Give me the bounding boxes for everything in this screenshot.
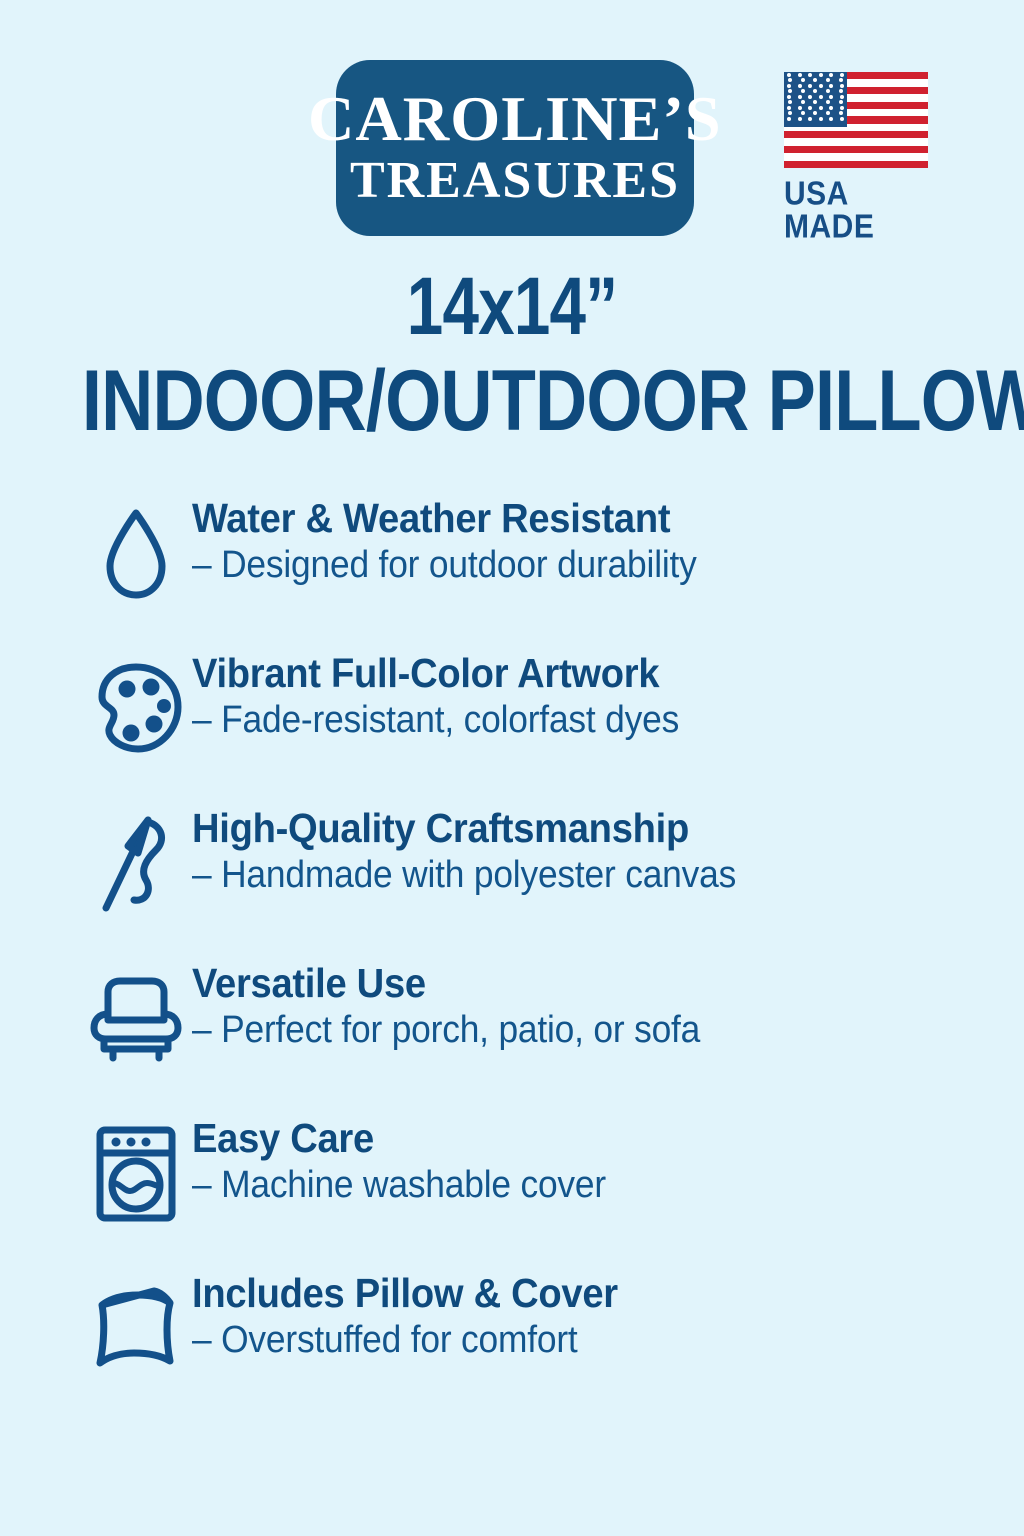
list-item: Easy Care – Machine washable cover bbox=[84, 1112, 984, 1267]
list-item: Includes Pillow & Cover – Overstuffed fo… bbox=[84, 1267, 984, 1422]
washing-machine-icon bbox=[84, 1112, 188, 1224]
feature-list: Water & Weather Resistant – Designed for… bbox=[84, 492, 984, 1422]
logo-line-2: TREASURES bbox=[350, 155, 680, 207]
feature-title: Water & Weather Resistant bbox=[192, 496, 697, 540]
list-item: Versatile Use – Perfect for porch, patio… bbox=[84, 957, 984, 1112]
feature-title: Easy Care bbox=[192, 1116, 606, 1160]
feature-text: High-Quality Craftsmanship – Handmade wi… bbox=[188, 802, 777, 897]
carolines-treasures-logo: CAROLINE’S TREASURES bbox=[336, 60, 694, 236]
feature-text: Water & Weather Resistant – Designed for… bbox=[188, 492, 735, 587]
list-item: Vibrant Full-Color Artwork – Fade-resist… bbox=[84, 647, 984, 802]
feature-subtitle: – Fade-resistant, colorfast dyes bbox=[192, 699, 679, 742]
usa-made-badge: USA MADE bbox=[784, 72, 934, 232]
feature-subtitle: – Overstuffed for comfort bbox=[192, 1319, 618, 1362]
product-size-title: 14x14” bbox=[102, 266, 921, 348]
header: CAROLINE’S TREASURES USA MADE bbox=[0, 60, 1024, 240]
feature-text: Easy Care – Machine washable cover bbox=[188, 1112, 637, 1207]
feature-text: Versatile Use – Perfect for porch, patio… bbox=[188, 957, 738, 1052]
feature-title: Includes Pillow & Cover bbox=[192, 1271, 618, 1315]
usa-flag-icon bbox=[784, 72, 928, 168]
feature-title: High-Quality Craftsmanship bbox=[192, 806, 736, 850]
feature-title: Versatile Use bbox=[192, 961, 700, 1005]
feature-subtitle: – Handmade with polyester canvas bbox=[192, 854, 736, 897]
paint-palette-icon bbox=[84, 647, 188, 759]
feature-title: Vibrant Full-Color Artwork bbox=[192, 651, 679, 695]
list-item: High-Quality Craftsmanship – Handmade wi… bbox=[84, 802, 984, 957]
feature-subtitle: – Perfect for porch, patio, or sofa bbox=[192, 1009, 700, 1052]
feature-subtitle: – Machine washable cover bbox=[192, 1164, 606, 1207]
armchair-icon bbox=[84, 957, 188, 1069]
usa-made-label: USA MADE bbox=[784, 178, 934, 244]
water-drop-icon bbox=[84, 492, 188, 604]
logo-line-1: CAROLINE’S bbox=[308, 89, 722, 151]
feature-text: Vibrant Full-Color Artwork – Fade-resist… bbox=[188, 647, 716, 742]
page-title: INDOOR/OUTDOOR PILLOW bbox=[82, 358, 942, 444]
flag-canton bbox=[784, 72, 847, 127]
pillow-icon bbox=[84, 1267, 188, 1379]
feature-text: Includes Pillow & Cover – Overstuffed fo… bbox=[188, 1267, 650, 1362]
list-item: Water & Weather Resistant – Designed for… bbox=[84, 492, 984, 647]
feature-subtitle: – Designed for outdoor durability bbox=[192, 544, 697, 587]
needle-thread-icon bbox=[84, 802, 188, 914]
